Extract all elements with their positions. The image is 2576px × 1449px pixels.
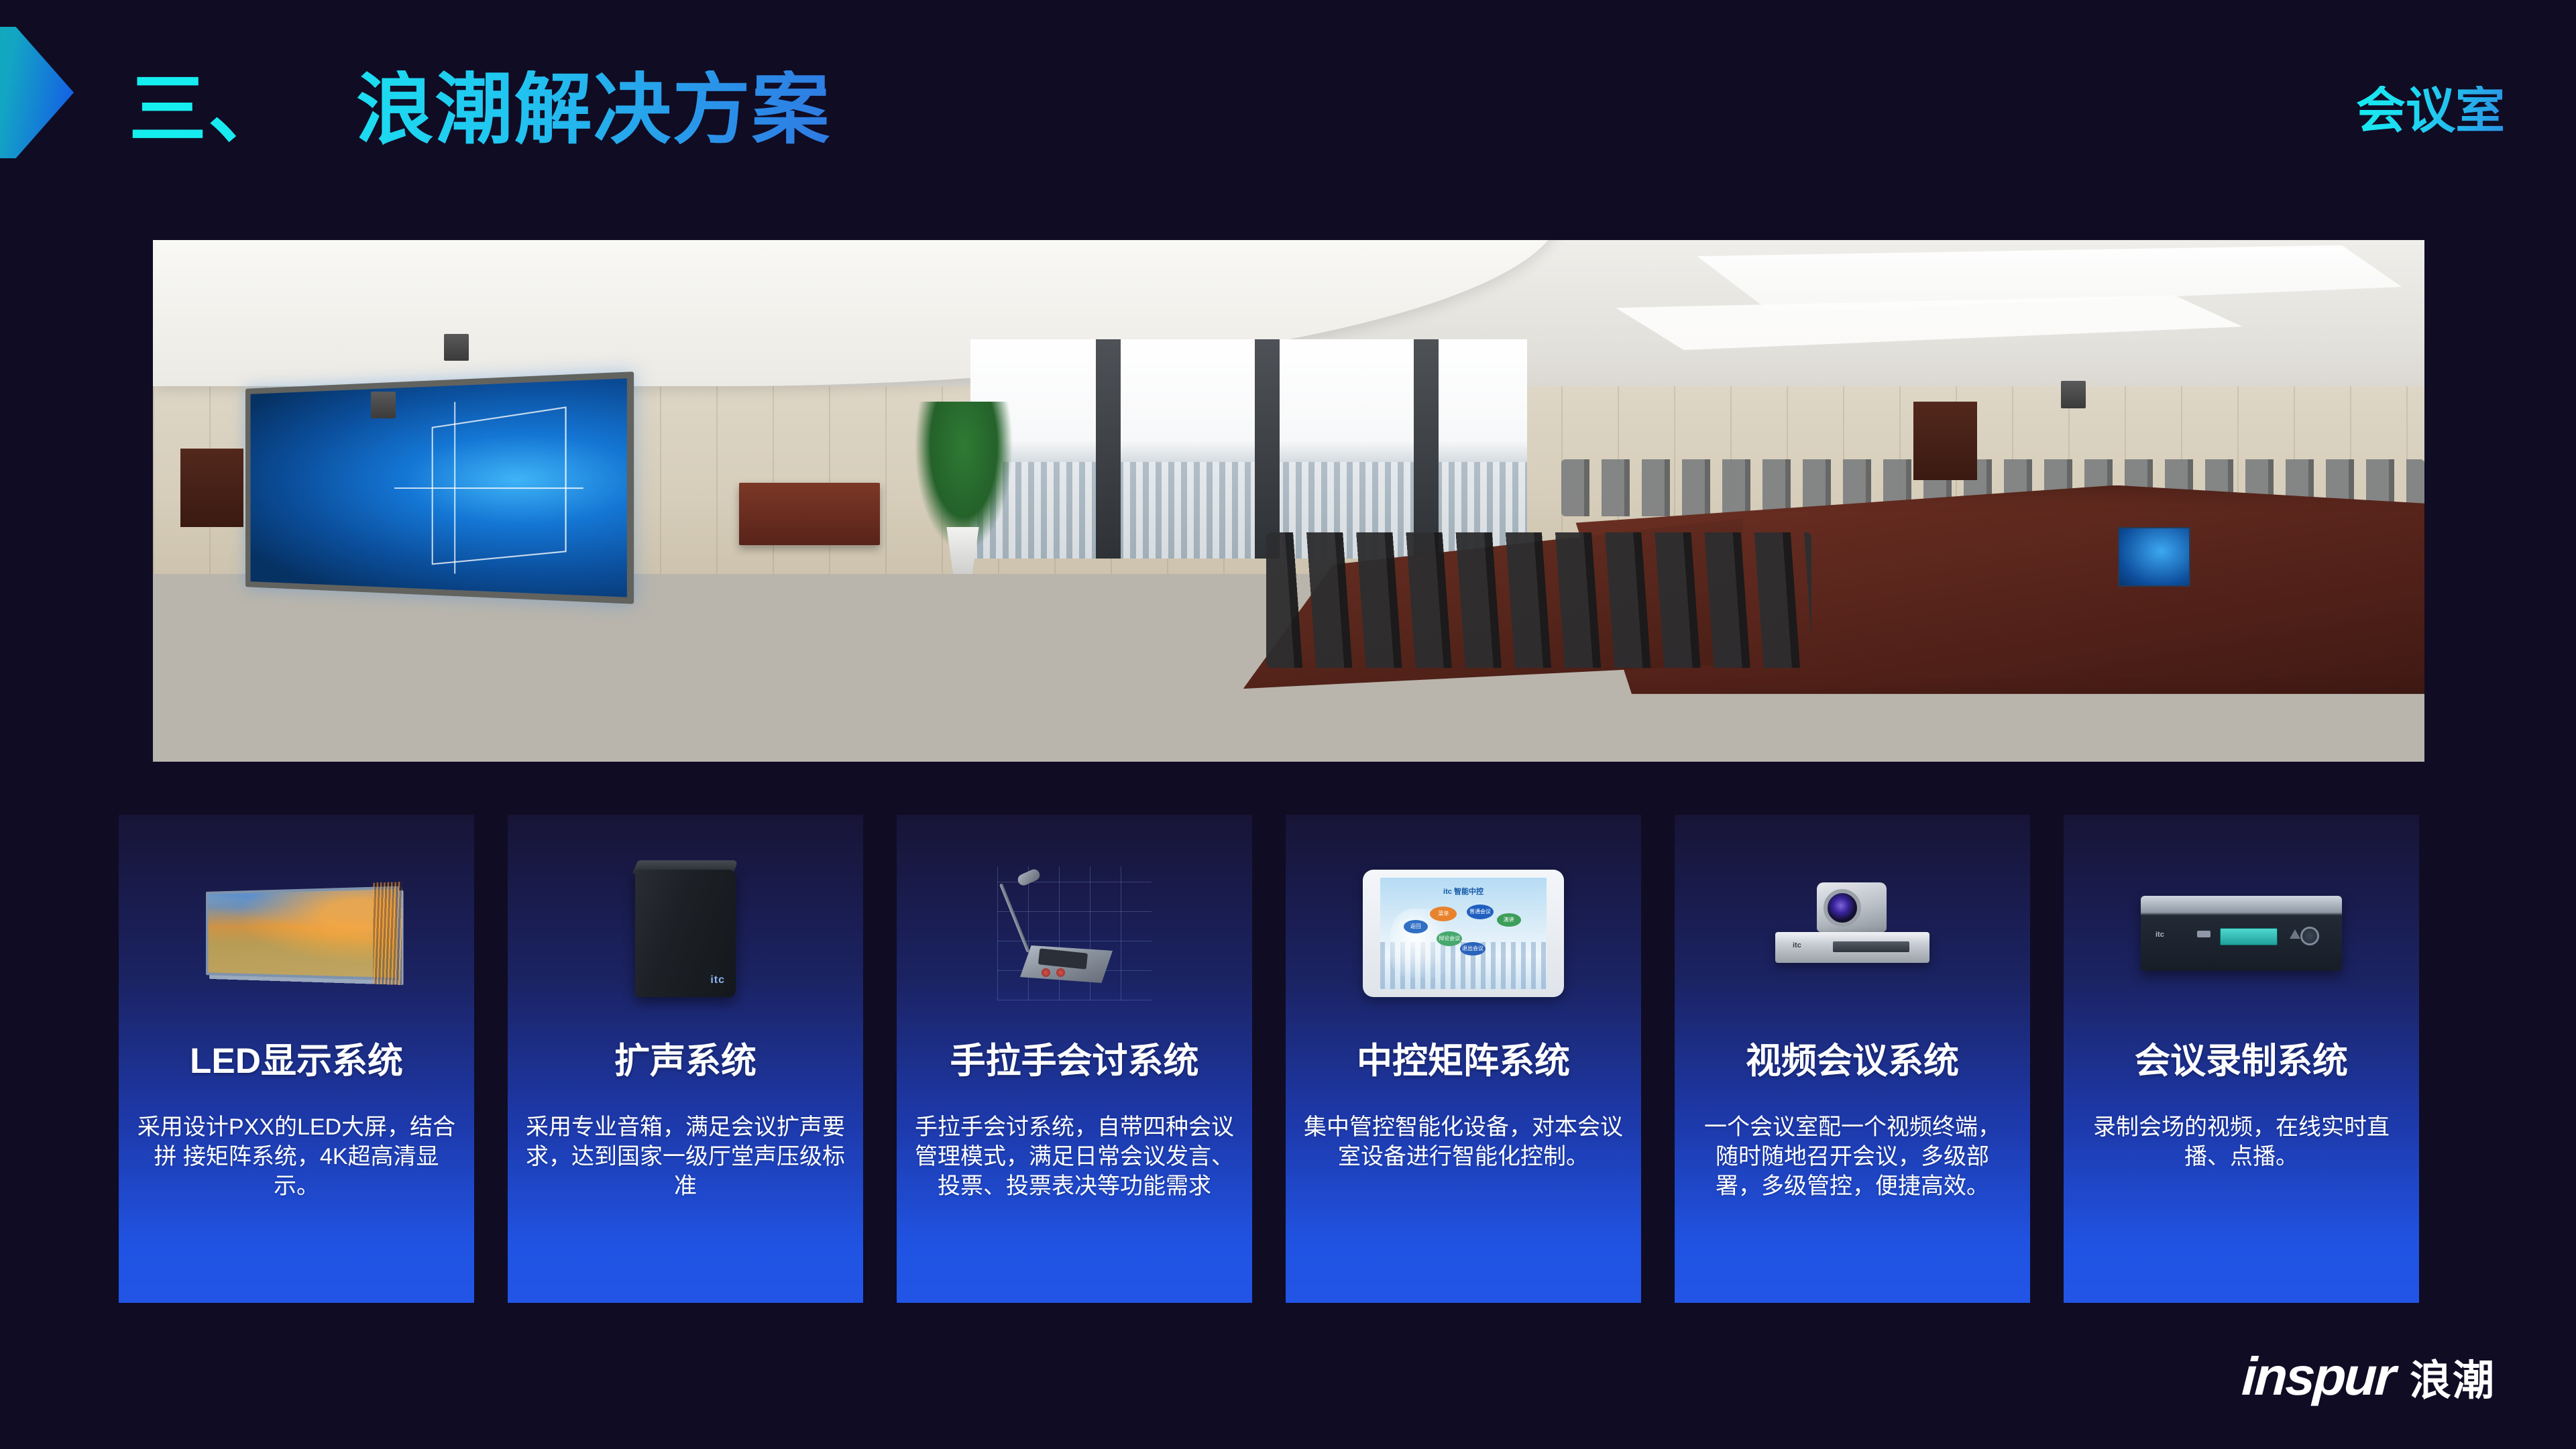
section-label-meeting-room: 会议室 — [2356, 86, 2505, 135]
card-title: 手拉手会讨系统 — [950, 1043, 1199, 1080]
device-brand-label: itc — [1793, 941, 1801, 949]
card-video-conference[interactable]: itc 视频会议系统 一个会议室配一个视频终端， 随时随地召开会议，多级部 署，… — [1675, 815, 2030, 1303]
chevron-decoration-icon — [0, 27, 74, 158]
card-body: 集中管控智能化设备，对本会议室设备进行智能化控制。 — [1286, 1112, 1641, 1171]
card-led-display[interactable]: LED显示系统 采用设计PXX的LED大屏，结合拼 接矩阵系统，4K超高清显示。 — [119, 815, 474, 1303]
conference-room-panorama — [153, 240, 2424, 762]
screen-node-4: 辩论会议 — [1437, 931, 1462, 946]
table-monitor — [2118, 527, 2190, 587]
rack-recorder-icon: itc — [2141, 896, 2342, 971]
card-title: 扩声系统 — [614, 1043, 757, 1080]
page-title: 三、 浪潮解决方案 — [129, 70, 831, 148]
screen-node-0: 菜单 — [1430, 907, 1457, 921]
logo-text-en: inspur — [2240, 1346, 2395, 1407]
device-brand-label: itc — [2155, 931, 2164, 939]
window-city-view — [970, 339, 1527, 559]
led-display-icon — [206, 886, 399, 981]
card-image-microphone — [897, 829, 1252, 1037]
card-image-recorder: itc — [2064, 829, 2419, 1037]
card-central-control-matrix[interactable]: itc 智能中控 菜单 返回 普通会议 演讲 辩论会议 退出会议 中控矩阵系统 … — [1286, 815, 1641, 1303]
led-video-wall — [245, 371, 634, 604]
window-mullion-3 — [1414, 339, 1439, 559]
device-brand-label: itc — [710, 974, 725, 986]
card-body: 采用设计PXX的LED大屏，结合拼 接矩阵系统，4K超高清显示。 — [119, 1112, 474, 1202]
wall-speaker-2-icon — [444, 334, 469, 361]
tablet-control-icon: itc 智能中控 菜单 返回 普通会议 演讲 辩论会议 退出会议 — [1363, 870, 1564, 997]
card-body: 录制会场的视频，在线实时直播、点播。 — [2064, 1112, 2419, 1171]
card-title: LED显示系统 — [190, 1043, 403, 1080]
card-title: 中控矩阵系统 — [1357, 1043, 1570, 1080]
card-image-led — [119, 829, 474, 1037]
logo-text-cn: 浪潮 — [2410, 1346, 2496, 1407]
card-image-speaker: itc — [508, 829, 863, 1037]
screen-node-1: 返回 — [1404, 920, 1428, 933]
card-image-camera: itc — [1675, 829, 2030, 1037]
card-body: 采用专业音箱，满足会议扩声要求，达到国家一级厅堂声压级标准 — [508, 1112, 863, 1202]
window-mullion-1 — [1096, 339, 1121, 559]
inspur-logo: inspur 浪潮 — [2242, 1346, 2496, 1407]
windows-logo-wallpaper-icon — [432, 406, 567, 565]
card-body: 手拉手会讨系统，自带四种会议管理模式，满足日常会议发言、投票、投票表决等功能需求 — [897, 1112, 1252, 1202]
page-header: 三、 浪潮解决方案 会议室 — [0, 0, 2576, 201]
loudspeaker-icon: itc — [635, 870, 736, 997]
card-title: 会议录制系统 — [2135, 1043, 2348, 1080]
wooden-sideboard — [739, 483, 880, 545]
gooseneck-microphone-icon — [997, 866, 1152, 1000]
card-image-tablet: itc 智能中控 菜单 返回 普通会议 演讲 辩论会议 退出会议 — [1286, 829, 1641, 1037]
device-brand-label: itc 智能中控 — [1443, 886, 1483, 896]
card-meeting-recording[interactable]: itc 会议录制系统 录制会场的视频，在线实时直播、点播。 — [2064, 815, 2419, 1303]
window-mullion-2 — [1255, 339, 1280, 559]
ptz-camera-icon: itc — [1775, 880, 1929, 987]
chairs-near-row — [1266, 532, 1811, 668]
screen-node-2: 普通会议 — [1467, 905, 1494, 919]
wall-speaker-1-icon — [371, 392, 396, 418]
solution-card-row: LED显示系统 采用设计PXX的LED大屏，结合拼 接矩阵系统，4K超高清显示。… — [0, 815, 2576, 1304]
card-discussion-system[interactable]: 手拉手会讨系统 手拉手会讨系统，自带四种会议管理模式，满足日常会议发言、投票、投… — [897, 815, 1252, 1303]
screen-node-3: 演讲 — [1497, 913, 1521, 927]
card-body: 一个会议室配一个视频终端， 随时随地召开会议，多级部 署，多级管控，便捷高效。 — [1675, 1112, 2030, 1202]
door-right — [1913, 402, 1977, 480]
wall-speaker-3-icon — [2061, 381, 2086, 408]
door-left — [180, 449, 244, 527]
card-title: 视频会议系统 — [1746, 1043, 1959, 1080]
card-sound-reinforcement[interactable]: itc 扩声系统 采用专业音箱，满足会议扩声要求，达到国家一级厅堂声压级标准 — [508, 815, 863, 1303]
